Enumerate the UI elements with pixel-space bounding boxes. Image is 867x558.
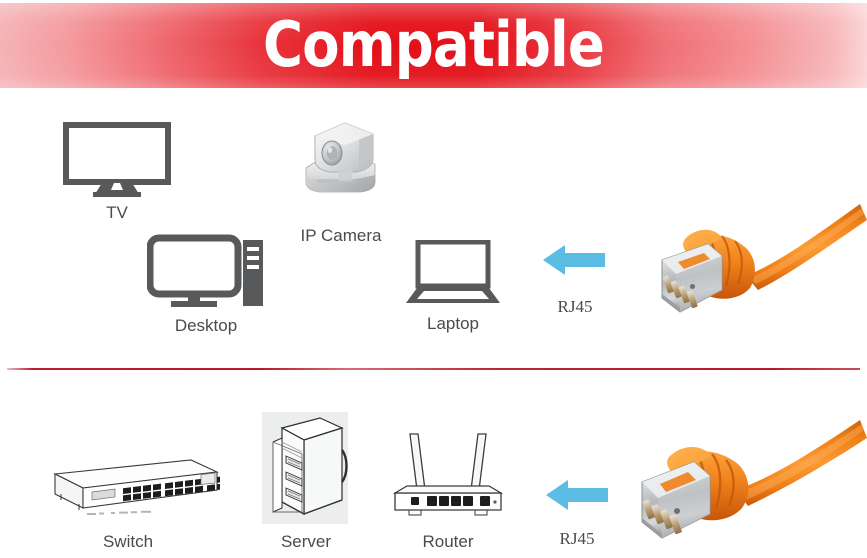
network-switch-icon <box>35 452 220 524</box>
compatible-devices-diagram: Compatible TV <box>0 0 867 558</box>
device-label-ip-camera: IP Camera <box>279 226 403 246</box>
header-banner: Compatible <box>0 3 867 88</box>
ethernet-cable-top <box>650 198 867 358</box>
ethernet-cable-bottom <box>628 418 867 558</box>
device-label-router: Router <box>388 532 508 552</box>
desktop-icon <box>147 234 265 310</box>
arrow-left-icon <box>546 478 608 512</box>
device-server <box>262 412 348 524</box>
device-label-desktop: Desktop <box>145 316 267 336</box>
arrow-left-icon <box>543 243 605 277</box>
device-desktop <box>147 234 265 310</box>
server-rack-icon <box>262 412 348 524</box>
device-label-switch: Switch <box>58 532 198 552</box>
device-label-tv: TV <box>62 203 172 223</box>
device-laptop <box>405 240 501 306</box>
device-tv <box>62 122 172 198</box>
device-label-laptop: Laptop <box>393 314 513 334</box>
wifi-router-icon <box>387 420 509 524</box>
device-switch <box>35 452 220 524</box>
section-divider <box>7 368 860 370</box>
connector-label-rj45-top: RJ45 <box>527 297 623 317</box>
connector-arrow-bottom <box>546 478 608 512</box>
page-title: Compatible <box>52 3 815 88</box>
device-label-server: Server <box>250 532 362 552</box>
tv-icon <box>62 122 172 198</box>
device-router <box>387 420 509 524</box>
device-ip-camera <box>293 112 389 200</box>
laptop-icon <box>405 240 501 306</box>
connector-label-rj45-bottom: RJ45 <box>529 529 625 549</box>
ethernet-cable-icon <box>650 198 867 358</box>
ip-camera-icon <box>293 112 389 200</box>
ethernet-cable-icon <box>628 418 867 558</box>
connector-arrow-top <box>543 243 605 277</box>
